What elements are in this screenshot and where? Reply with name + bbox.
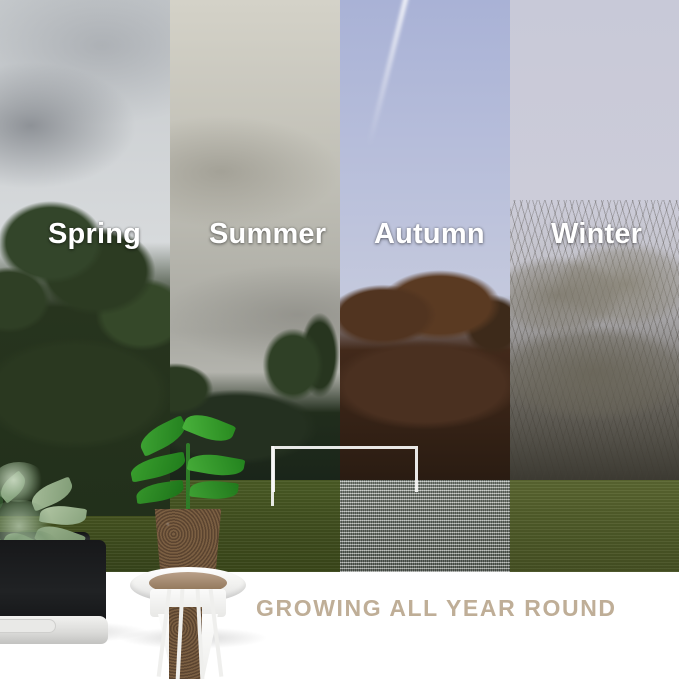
season-panel-winter (510, 0, 679, 572)
seedling-leaf (135, 480, 185, 505)
football-goal (272, 446, 418, 492)
seedling-leaf (189, 479, 239, 502)
planter-reservoir-body (0, 540, 106, 626)
season-label-autumn: Autumn (374, 218, 485, 251)
seasonal-collage-image: Spring Summer Autumn Winter GROWING ALL … (0, 0, 679, 679)
season-label-winter: Winter (551, 218, 642, 251)
seedling-stem (186, 443, 190, 515)
tagline-text: GROWING ALL YEAR ROUND (256, 595, 617, 622)
seedling-leaf (129, 451, 188, 482)
season-label-summer: Summer (209, 218, 326, 251)
seedling-leaf (187, 450, 246, 479)
grass-autumn-frost (340, 480, 510, 572)
season-label-spring: Spring (48, 218, 141, 251)
treeline-autumn (340, 230, 510, 480)
football-goal-post (271, 446, 274, 506)
hydroponic-planter (0, 524, 106, 644)
planter-control-panel (0, 619, 56, 633)
grass-winter (510, 480, 679, 572)
seed-pod-assembly (122, 439, 254, 679)
